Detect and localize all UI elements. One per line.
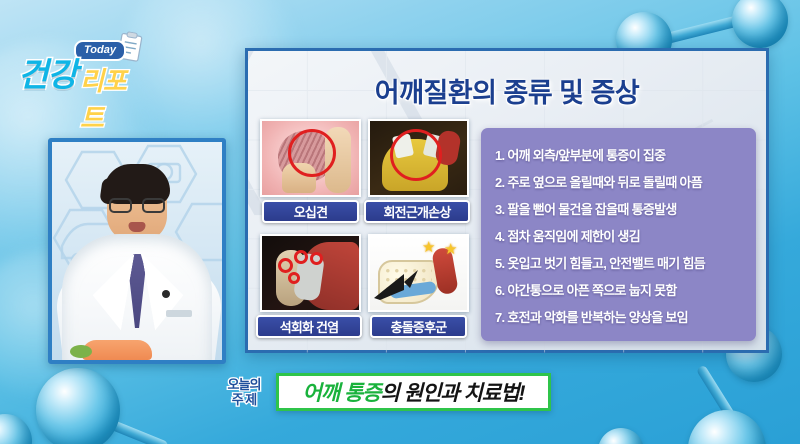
highlight-circle-icon: [310, 252, 323, 265]
disease-thumbnail-grid: 오십견 회전근개손상: [260, 119, 470, 341]
topic-tag: 오늘의 주 제: [218, 377, 270, 407]
highlight-circle-icon: [390, 129, 442, 181]
symptom-item: 2. 주로 옆으로 올릴때와 뒤로 돌릴때 아픔: [495, 169, 746, 196]
topic-tag-line2: 주 제: [218, 392, 270, 407]
topic-tag-line1: 오늘의: [218, 377, 270, 392]
logo-today-badge: Today: [74, 40, 126, 61]
program-logo: Today 건강 리포트: [14, 28, 142, 96]
arrow-icon: [374, 270, 418, 300]
impact-star-icon: ★: [444, 240, 457, 258]
thumbnail-card[interactable]: 오십견: [260, 119, 361, 223]
disease-image-impingement: ★ ★: [368, 234, 469, 312]
coat-name-badge: [166, 310, 192, 317]
thumbnail-card[interactable]: 석회화 건염: [260, 234, 361, 338]
slide-title: 어깨질환의 종류 및 증상: [248, 71, 766, 110]
thumbnail-card[interactable]: ★ ★ 충돌증후군: [368, 234, 469, 338]
disease-image-rotator-cuff: [368, 119, 469, 197]
symptoms-panel: 1. 어깨 외측/앞부분에 통증이 집중 2. 주로 옆으로 올릴때와 뒤로 돌…: [481, 128, 756, 341]
impact-star-icon: ★: [422, 238, 435, 256]
highlight-circle-icon: [288, 129, 336, 177]
logo-title-main: 건강: [18, 48, 77, 96]
disease-image-frozen-shoulder: [260, 119, 361, 197]
lapel-microphone-icon: [162, 290, 170, 298]
table-prop: [82, 340, 152, 360]
symptom-item: 6. 야간통으로 아픈 쪽으로 눕지 못함: [495, 277, 746, 304]
presenter-video-frame: [48, 138, 226, 364]
glasses-icon: [109, 198, 165, 213]
highlight-circle-icon: [288, 272, 300, 284]
thumbnail-card[interactable]: 회전근개손상: [368, 119, 469, 223]
topic-banner-text: 어깨 통증의 원인과 치료법!: [302, 377, 524, 407]
logo-title-sub: 리포트: [80, 61, 142, 135]
topic-rest: 의 원인과 치료법!: [381, 382, 525, 405]
thumbnail-caption: 오십견: [262, 200, 359, 223]
thumbnail-caption: 회전근개손상: [364, 200, 470, 223]
presenter-mouth: [129, 222, 146, 232]
presentation-slide: 어깨질환의 종류 및 증상 오십견 회전근개: [245, 48, 769, 353]
broadcast-screen: Today 건강 리포트: [0, 0, 800, 444]
topic-banner: 오늘의 주 제 어깨 통증의 원인과 치료법!: [218, 372, 551, 412]
topic-highlight: 어깨 통증: [302, 382, 380, 405]
highlight-circle-icon: [278, 258, 293, 273]
highlight-circle-icon: [294, 250, 308, 264]
symptom-item: 1. 어깨 외측/앞부분에 통증이 집중: [495, 142, 746, 169]
thumbnail-caption: 석회화 건염: [256, 315, 362, 338]
symptom-item: 3. 팔을 뻗어 물건을 잡을때 통증발생: [495, 196, 746, 223]
molecule-sphere: [36, 368, 120, 444]
symptom-item: 5. 옷입고 벗기 힘들고, 안전밸트 매기 힘듬: [495, 250, 746, 277]
topic-banner-box: 어깨 통증의 원인과 치료법!: [276, 373, 551, 411]
symptom-item: 4. 점차 움직임에 제한이 생김: [495, 223, 746, 250]
thumbnail-caption: 충돌증후군: [370, 315, 467, 338]
symptom-item: 7. 호전과 악화를 반복하는 양상을 보임: [495, 304, 746, 331]
disease-image-calcific-tendinitis: [260, 234, 361, 312]
